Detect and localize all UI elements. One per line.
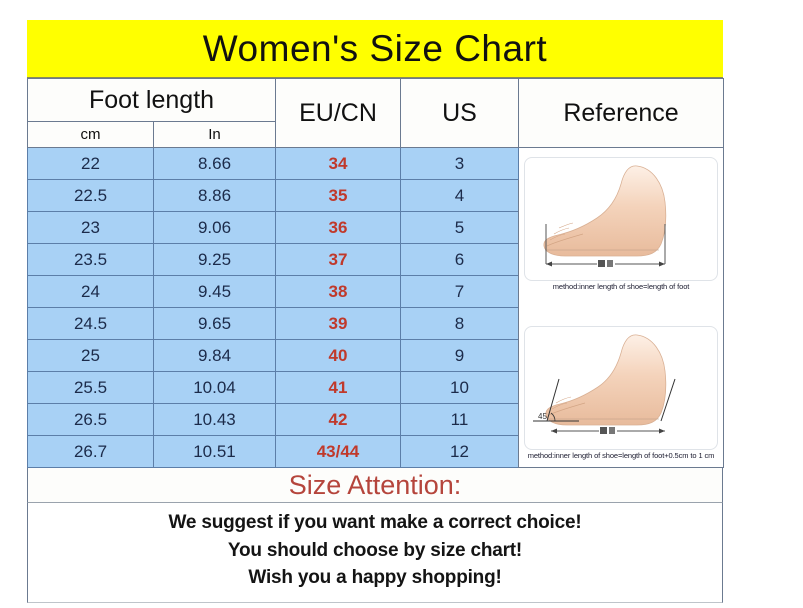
cell-cm: 26.5: [28, 404, 154, 436]
cell-us: 12: [401, 436, 519, 468]
cell-cm: 24.5: [28, 308, 154, 340]
cell-eu: 42: [276, 404, 401, 436]
cell-in: 10.43: [154, 404, 276, 436]
reference-caption-two: method:inner length of shoe=length of fo…: [528, 452, 715, 460]
cell-us: 8: [401, 308, 519, 340]
note-line: You should choose by size chart!: [28, 537, 722, 565]
size-attention-heading-row: Size Attention:: [27, 468, 723, 503]
chart-title-bar: Women's Size Chart: [27, 20, 723, 78]
foot-side-view-angle-icon: 45: [525, 327, 717, 449]
cell-in: 10.04: [154, 372, 276, 404]
column-header-reference: Reference: [519, 79, 724, 148]
cell-cm: 25.5: [28, 372, 154, 404]
cell-us: 7: [401, 276, 519, 308]
cell-cm: 24: [28, 276, 154, 308]
cell-in: 8.86: [154, 180, 276, 212]
cell-us: 6: [401, 244, 519, 276]
reference-block-one: method:inner length of shoe=length of fo…: [522, 157, 720, 291]
note-line: Wish you a happy shopping!: [28, 564, 722, 592]
cell-eu: 40: [276, 340, 401, 372]
size-chart-sheet: Women's Size Chart Foot length EU/CN US …: [27, 20, 723, 603]
cell-in: 9.25: [154, 244, 276, 276]
foot-side-view-icon: [525, 158, 717, 280]
reference-block-two: 45 method:inner lengt: [522, 326, 720, 460]
cell-cm: 22.5: [28, 180, 154, 212]
page-title: Women's Size Chart: [203, 30, 547, 67]
cell-us: 5: [401, 212, 519, 244]
table-body: 22 8.66 34 3: [28, 148, 724, 468]
reference-column-cell: method:inner length of shoe=length of fo…: [519, 148, 724, 468]
table-head: Foot length EU/CN US Reference cm In: [28, 79, 724, 148]
cell-in: 9.06: [154, 212, 276, 244]
cell-cm: 25: [28, 340, 154, 372]
cell-cm: 23: [28, 212, 154, 244]
cell-eu: 38: [276, 276, 401, 308]
cell-in: 9.84: [154, 340, 276, 372]
column-header-in: In: [154, 122, 276, 148]
cell-cm: 23.5: [28, 244, 154, 276]
foot-measure-diagram-plain: [524, 157, 718, 281]
cell-cm: 22: [28, 148, 154, 180]
cell-us: 10: [401, 372, 519, 404]
cell-in: 9.65: [154, 308, 276, 340]
cell-eu: 35: [276, 180, 401, 212]
cell-us: 4: [401, 180, 519, 212]
cell-in: 9.45: [154, 276, 276, 308]
column-header-us: US: [401, 79, 519, 148]
foot-measure-diagram-angled: 45: [524, 326, 718, 450]
reference-figures: method:inner length of shoe=length of fo…: [519, 153, 723, 463]
cell-eu: 36: [276, 212, 401, 244]
column-header-foot-length: Foot length: [28, 79, 276, 122]
column-header-cm: cm: [28, 122, 154, 148]
cell-eu: 37: [276, 244, 401, 276]
size-attention-notes: We suggest if you want make a correct ch…: [27, 503, 723, 603]
angle-label: 45: [538, 412, 547, 421]
table-row: 22 8.66 34 3: [28, 148, 724, 180]
size-chart-table: Foot length EU/CN US Reference cm In 22 …: [27, 78, 724, 468]
cell-eu: 41: [276, 372, 401, 404]
size-attention-heading: Size Attention:: [289, 472, 462, 499]
cell-eu: 34: [276, 148, 401, 180]
cell-eu: 43/44: [276, 436, 401, 468]
reference-caption-one: method:inner length of shoe=length of fo…: [553, 283, 690, 291]
column-header-eu-cn: EU/CN: [276, 79, 401, 148]
cell-us: 3: [401, 148, 519, 180]
cell-us: 9: [401, 340, 519, 372]
cell-cm: 26.7: [28, 436, 154, 468]
cell-eu: 39: [276, 308, 401, 340]
header-row-primary: Foot length EU/CN US Reference: [28, 79, 724, 122]
cell-in: 8.66: [154, 148, 276, 180]
cell-in: 10.51: [154, 436, 276, 468]
cell-us: 11: [401, 404, 519, 436]
note-line: We suggest if you want make a correct ch…: [28, 509, 722, 537]
